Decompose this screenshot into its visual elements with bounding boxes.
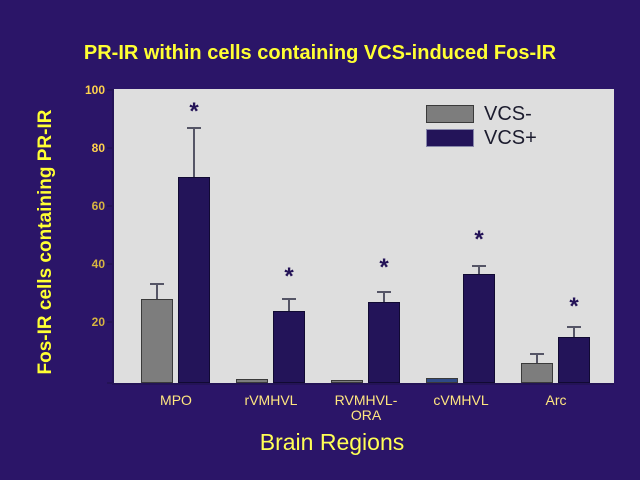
legend-swatch-vcs-minus xyxy=(426,105,474,123)
legend-swatch-vcs-plus xyxy=(426,129,474,147)
bar-vcs-minus-rvmhvl xyxy=(236,379,268,383)
errorbar-vcs-plus-rvmhvl-ora-cap xyxy=(377,291,391,293)
y-tick-label-80: 80 xyxy=(60,141,105,155)
errorbar-vcs-minus-arc-stem xyxy=(536,354,538,363)
legend: VCS- VCS+ xyxy=(426,102,596,150)
slide-canvas: PR-IR within cells containing VCS-induce… xyxy=(0,0,640,480)
legend-label-vcs-plus: VCS+ xyxy=(484,127,537,150)
errorbar-vcs-plus-rvmhvl-ora-stem xyxy=(383,292,385,302)
x-category-label-cvmhvl: cVMHVL xyxy=(433,393,488,408)
y-tick-label-40: 40 xyxy=(60,257,105,271)
bar-vcs-plus-cvmhvl xyxy=(463,274,495,383)
y-tick-label-100: 100 xyxy=(60,83,105,97)
x-category-label-mpo: MPO xyxy=(160,393,192,408)
bar-vcs-plus-rvmhvl xyxy=(273,311,305,383)
bar-vcs-minus-cvmhvl xyxy=(426,378,458,383)
significance-star-arc: * xyxy=(569,295,578,319)
errorbar-vcs-plus-rvmhvl-stem xyxy=(288,299,290,311)
errorbar-vcs-plus-rvmhvl-cap xyxy=(282,298,296,300)
legend-item-vcs-plus: VCS+ xyxy=(426,126,596,150)
significance-star-mpo: * xyxy=(189,100,198,124)
y-axis-title: Fos-IR cells containing PR-IR xyxy=(35,87,57,397)
significance-star-rvmhvl: * xyxy=(284,265,293,289)
plot-area: * * * * * VCS- VCS+ xyxy=(112,89,614,385)
bar-vcs-minus-mpo xyxy=(141,299,173,383)
legend-label-vcs-minus: VCS- xyxy=(484,103,532,126)
errorbar-vcs-minus-mpo-stem xyxy=(156,284,158,299)
y-tick-label-20: 20 xyxy=(60,315,105,329)
bar-vcs-plus-mpo xyxy=(178,177,210,383)
errorbar-vcs-minus-mpo-cap xyxy=(150,283,164,285)
errorbar-vcs-plus-arc-stem xyxy=(573,327,575,337)
x-axis-title: Brain Regions xyxy=(112,429,552,456)
chart-title: PR-IR within cells containing VCS-induce… xyxy=(0,42,640,65)
x-category-label-arc: Arc xyxy=(546,393,567,408)
y-tick-label-60: 60 xyxy=(60,199,105,213)
x-category-label-rvmhvl: rVMHVL xyxy=(245,393,298,408)
legend-item-vcs-minus: VCS- xyxy=(426,102,596,126)
errorbar-vcs-plus-mpo-cap xyxy=(187,127,201,129)
errorbar-vcs-minus-arc-cap xyxy=(530,353,544,355)
significance-star-rvmhvl-ora: * xyxy=(379,256,388,280)
errorbar-vcs-plus-arc-cap xyxy=(567,326,581,328)
bar-vcs-plus-arc xyxy=(558,337,590,383)
significance-star-cvmhvl: * xyxy=(474,228,483,252)
bar-vcs-minus-arc xyxy=(521,363,553,383)
x-category-label-rvmhvl-ora: RVMHVL- ORA xyxy=(335,393,398,423)
errorbar-vcs-plus-cvmhvl-stem xyxy=(478,266,480,274)
bar-vcs-plus-rvmhvl-ora xyxy=(368,302,400,383)
errorbar-vcs-plus-cvmhvl-cap xyxy=(472,265,486,267)
bar-vcs-minus-rvmhvl-ora xyxy=(331,380,363,383)
errorbar-vcs-plus-mpo-stem xyxy=(193,128,195,177)
